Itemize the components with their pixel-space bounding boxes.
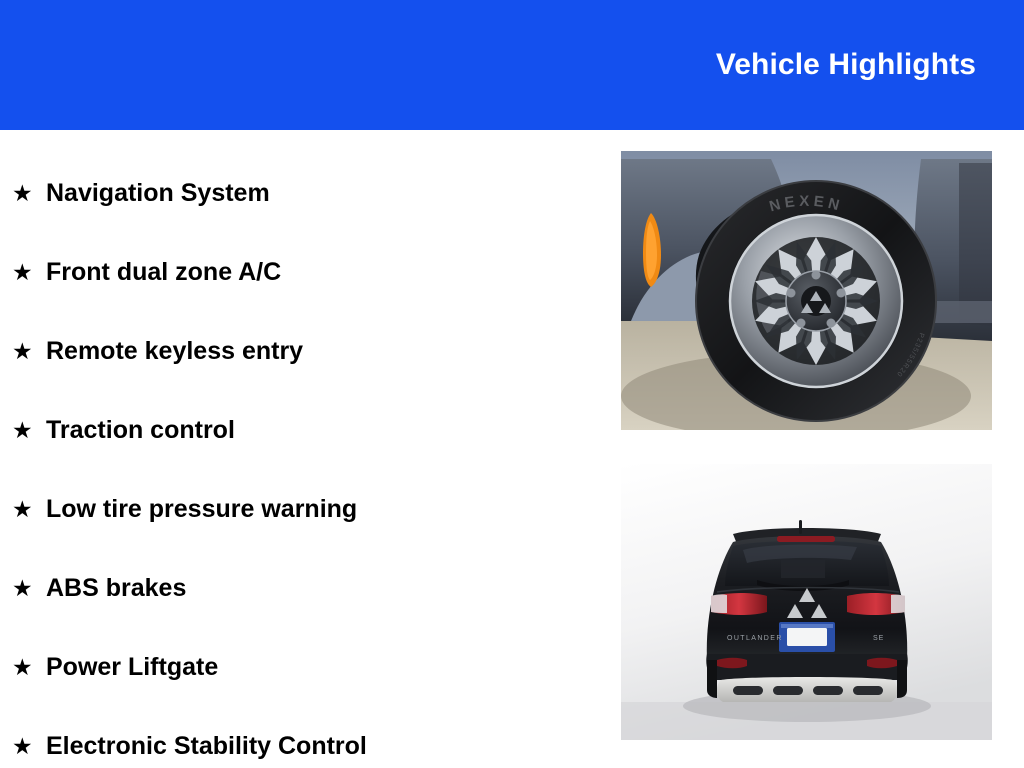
feature-label: Traction control [46, 417, 235, 445]
feature-label: Remote keyless entry [46, 338, 303, 366]
star-icon: ★ [12, 498, 46, 521]
feature-label: Electronic Stability Control [46, 733, 367, 761]
star-icon: ★ [12, 419, 46, 442]
svg-text:SE: SE [873, 635, 884, 642]
wheel-photo-graphic: NEXEN P235/55R20 [621, 151, 992, 430]
list-item: ★ ABS brakes [0, 549, 600, 628]
list-item: ★ Front dual zone A/C [0, 233, 600, 312]
vehicle-highlights-slide: Vehicle Highlights ★ Navigation System ★… [0, 0, 1024, 768]
star-icon: ★ [12, 182, 46, 205]
list-item: ★ Low tire pressure warning [0, 470, 600, 549]
star-icon: ★ [12, 340, 46, 363]
feature-label: Low tire pressure warning [46, 496, 357, 524]
rear-photo-graphic: OUTLANDER SE [621, 464, 992, 740]
list-item: ★ Electronic Stability Control [0, 707, 600, 768]
list-item: ★ Traction control [0, 391, 600, 470]
feature-label: Front dual zone A/C [46, 259, 281, 287]
vehicle-wheel-photo: NEXEN P235/55R20 [621, 151, 992, 430]
star-icon: ★ [12, 735, 46, 758]
page-title: Vehicle Highlights [716, 50, 1024, 80]
feature-label: Navigation System [46, 180, 270, 208]
star-icon: ★ [12, 577, 46, 600]
feature-label: ABS brakes [46, 575, 186, 603]
header-bar: Vehicle Highlights [0, 0, 1024, 130]
vehicle-features-list: ★ Navigation System ★ Front dual zone A/… [0, 130, 600, 768]
list-item: ★ Power Liftgate [0, 628, 600, 707]
list-item: ★ Navigation System [0, 154, 600, 233]
svg-text:OUTLANDER: OUTLANDER [727, 635, 783, 642]
star-icon: ★ [12, 261, 46, 284]
star-icon: ★ [12, 656, 46, 679]
vehicle-rear-photo: OUTLANDER SE [621, 464, 992, 740]
feature-label: Power Liftgate [46, 654, 218, 682]
list-item: ★ Remote keyless entry [0, 312, 600, 391]
